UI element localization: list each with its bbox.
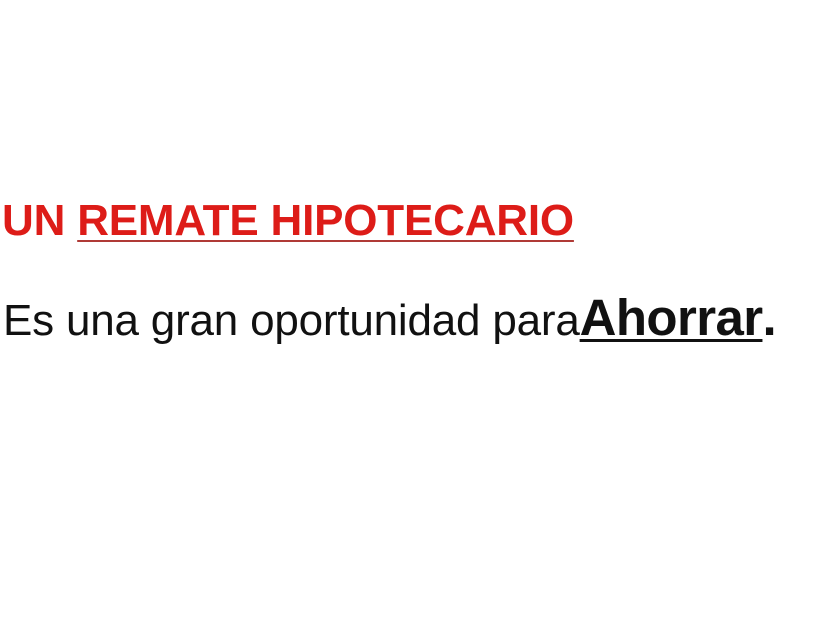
headline-text: UN REMATE HIPOTECARIO — [2, 197, 574, 245]
subline-lead-segment: Es una gran oportunidad para — [3, 296, 580, 345]
headline-plain-segment: UN — [2, 196, 77, 245]
subline-text: Es una gran oportunidad paraAhorrar. — [3, 292, 776, 347]
slide-canvas: UN REMATE HIPOTECARIO Es una gran oportu… — [0, 0, 840, 630]
subline-emphasis-word: Ahorrar — [580, 289, 763, 346]
headline-underlined-segment: REMATE HIPOTECARIO — [77, 196, 574, 245]
subline-period: . — [762, 289, 776, 346]
